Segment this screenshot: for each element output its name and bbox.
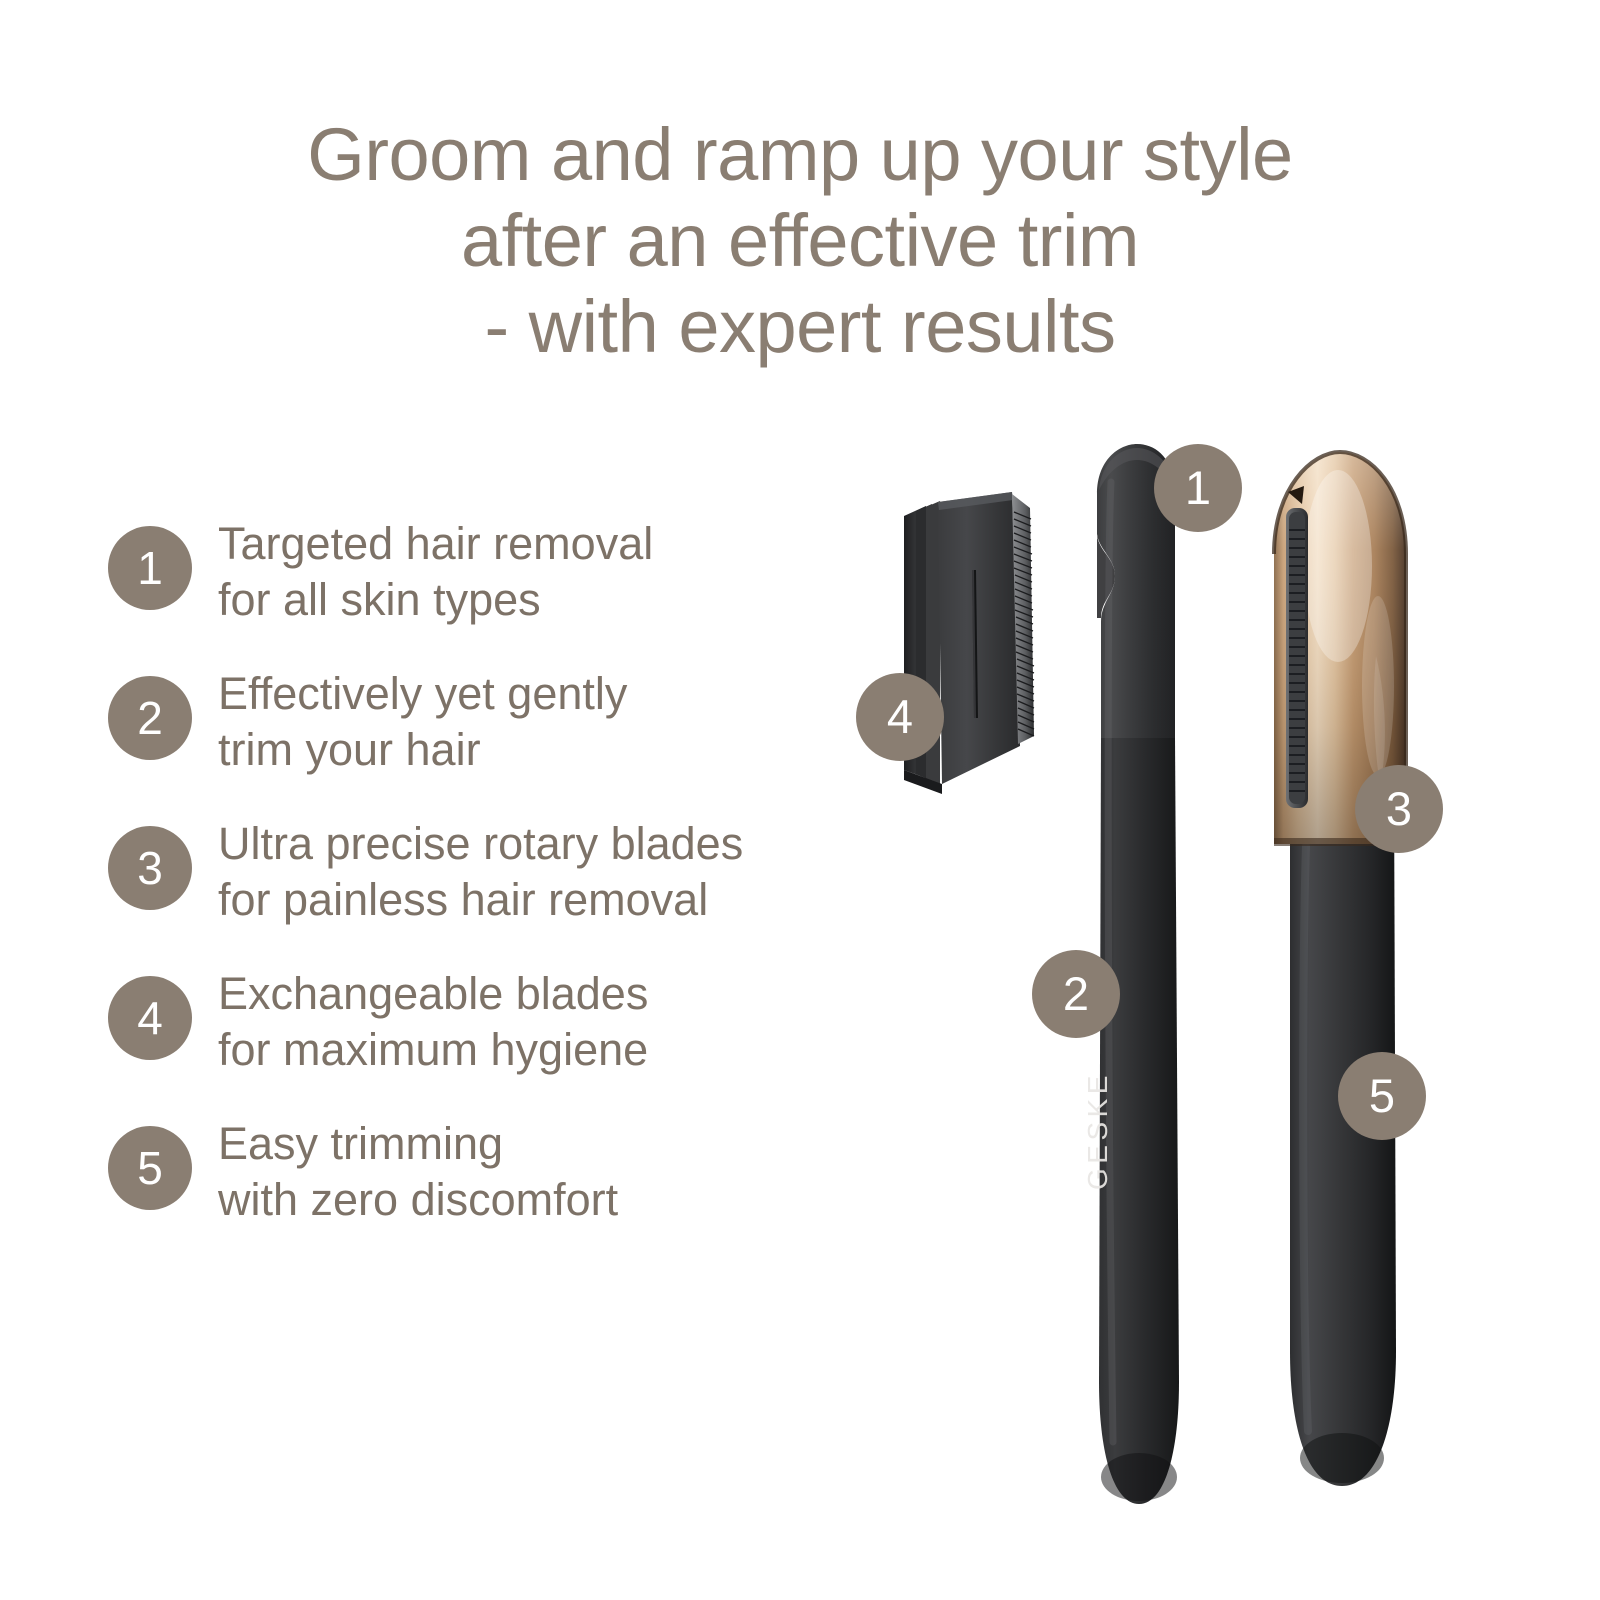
feature-text-2-line-2: trim your hair <box>218 722 627 778</box>
feature-text-1: Targeted hair removal for all skin types <box>218 512 653 628</box>
brand-wordmark: GESKE <box>1082 1071 1114 1190</box>
feature-text-4-line-1: Exchangeable blades <box>218 966 648 1022</box>
product-callout-1[interactable]: 1 <box>1154 444 1242 532</box>
cartridge-face <box>938 492 1020 784</box>
feature-number-badge-4: 4 <box>108 976 192 1060</box>
feature-text-1-line-2: for all skin types <box>218 572 653 628</box>
capped-device-image <box>1260 446 1418 1521</box>
feature-item-3: 3 Ultra precise rotary blades for painle… <box>108 812 908 928</box>
feature-text-4: Exchangeable blades for maximum hygiene <box>218 962 648 1078</box>
page-title: Groom and ramp up your style after an ef… <box>0 112 1600 370</box>
feature-text-4-line-2: for maximum hygiene <box>218 1022 648 1078</box>
feature-text-2-line-1: Effectively yet gently <box>218 666 627 722</box>
product-photo-group: GESKE 1 2 3 4 5 <box>850 430 1550 1550</box>
gold-cap-blade-inner <box>1289 512 1305 804</box>
product-callout-3[interactable]: 3 <box>1355 765 1443 853</box>
feature-text-5: Easy trimming with zero discomfort <box>218 1112 618 1228</box>
feature-item-2: 2 Effectively yet gently trim your hair <box>108 662 908 778</box>
feature-text-5-line-2: with zero discomfort <box>218 1172 618 1228</box>
feature-item-5: 5 Easy trimming with zero discomfort <box>108 1112 908 1228</box>
feature-number-badge-2: 2 <box>108 676 192 760</box>
feature-number-badge-3: 3 <box>108 826 192 910</box>
headline-line-3: - with expert results <box>0 284 1600 370</box>
feature-text-3-line-1: Ultra precise rotary blades <box>218 816 743 872</box>
trimmer-bottom-shadow <box>1101 1453 1177 1501</box>
feature-list: 1 Targeted hair removal for all skin typ… <box>108 512 908 1262</box>
handle-bottom-shadow <box>1300 1433 1384 1483</box>
product-callout-5[interactable]: 5 <box>1338 1052 1426 1140</box>
feature-item-4: 4 Exchangeable blades for maximum hygien… <box>108 962 908 1078</box>
product-callout-4[interactable]: 4 <box>856 673 944 761</box>
feature-text-5-line-1: Easy trimming <box>218 1116 618 1172</box>
feature-text-1-line-1: Targeted hair removal <box>218 516 653 572</box>
feature-text-3: Ultra precise rotary blades for painless… <box>218 812 743 928</box>
feature-number-badge-5: 5 <box>108 1126 192 1210</box>
feature-item-1: 1 Targeted hair removal for all skin typ… <box>108 512 908 628</box>
product-callout-2[interactable]: 2 <box>1032 950 1120 1038</box>
headline-line-2: after an effective trim <box>0 198 1600 284</box>
gold-cap-gloss <box>1304 470 1372 662</box>
feature-text-2: Effectively yet gently trim your hair <box>218 662 627 778</box>
headline-line-1: Groom and ramp up your style <box>0 112 1600 198</box>
feature-text-3-line-2: for painless hair removal <box>218 872 743 928</box>
infographic-page: Groom and ramp up your style after an ef… <box>0 0 1600 1600</box>
feature-number-badge-1: 1 <box>108 526 192 610</box>
